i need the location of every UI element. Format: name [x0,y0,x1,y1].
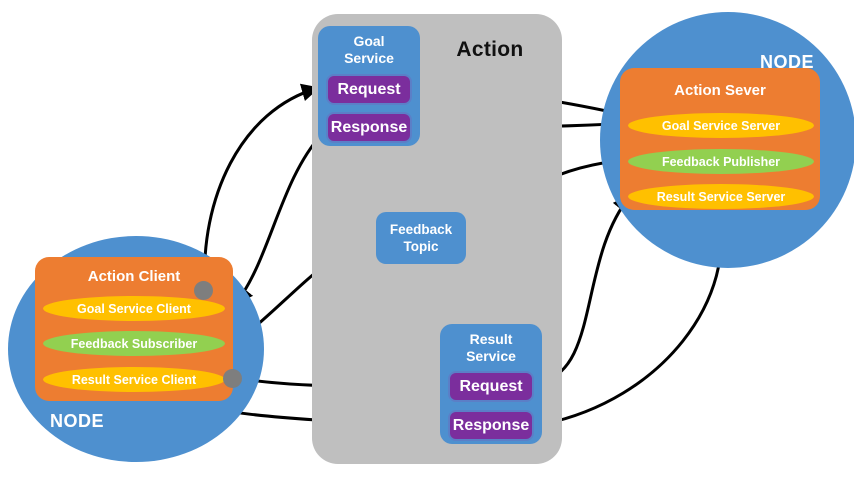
result-response-box[interactable]: Response [448,410,534,441]
result-request-box[interactable]: Request [448,371,534,402]
feedback-subscriber[interactable]: Feedback Subscriber [43,331,225,356]
feedback-topic-line2: Topic [404,239,439,254]
feedback-topic-line1: Feedback [390,222,452,237]
goal-service-client[interactable]: Goal Service Client [43,296,225,321]
goal-service-server[interactable]: Goal Service Server [628,113,814,138]
goal-service-title: Goal Service [318,33,420,67]
action-panel-title: Action [430,38,550,62]
feedback-publisher[interactable]: Feedback Publisher [628,149,814,174]
action-server-title: Action Sever [620,82,820,99]
result-service-title-line1: Result [470,331,513,347]
goal-response-box[interactable]: Response [326,112,412,143]
feedback-topic-text: Feedback Topic [390,221,452,255]
result-service-title: Result Service [440,331,542,365]
feedback-topic-box[interactable]: Feedback Topic [376,212,466,264]
goal-service-title-line2: Service [344,50,394,66]
client-node-label: NODE [50,411,104,432]
goal-request-box[interactable]: Request [326,74,412,105]
goal-client-connector-dot [194,281,213,300]
goal-service-title-line1: Goal [353,33,384,49]
result-service-server[interactable]: Result Service Server [628,184,814,209]
result-service-title-line2: Service [466,348,516,364]
arrow-goal-response-to-client [236,134,322,303]
diagram-canvas: Action NODE Action Sever Goal Service Se… [0,0,854,480]
result-service-client[interactable]: Result Service Client [43,367,225,392]
result-client-connector-dot [223,369,242,388]
